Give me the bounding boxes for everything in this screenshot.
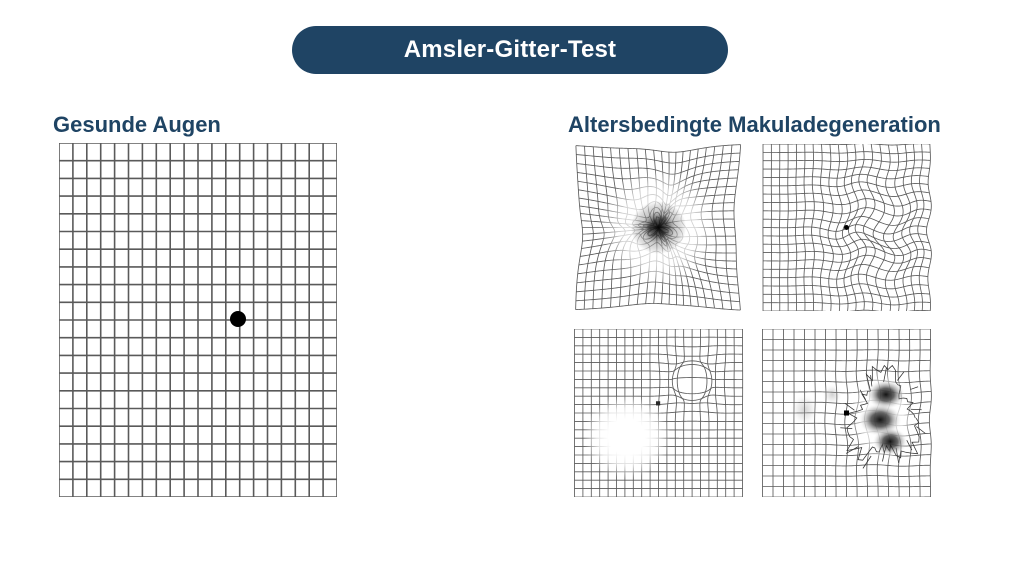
fixation-dot xyxy=(656,401,660,405)
amd-panel-dark-blotch xyxy=(761,329,932,497)
amd-grid-4-svg xyxy=(761,329,932,497)
amd-grid-3-svg xyxy=(573,329,744,497)
amd-panel-blind-spot xyxy=(573,329,744,497)
healthy-amsler-grid xyxy=(59,143,337,497)
scotoma-lower-left xyxy=(583,395,670,479)
amd-grid-2-svg xyxy=(761,144,932,311)
scotoma-faint-left xyxy=(790,393,819,427)
scotoma-faint-midleft xyxy=(822,384,842,406)
scotoma-dark-lower xyxy=(873,427,908,456)
page-root: Amsler-Gitter-Test Gesunde Augen Altersb… xyxy=(0,0,1024,576)
amd-grid-1-svg xyxy=(573,144,744,311)
amd-section-heading: Altersbedingte Makuladegeneration xyxy=(568,112,941,138)
healthy-grid-svg xyxy=(59,143,337,497)
grid-lines xyxy=(59,143,337,497)
title-banner: Amsler-Gitter-Test xyxy=(292,26,728,74)
amd-panel-wavy-right xyxy=(761,144,932,311)
fixation-dot xyxy=(230,311,246,327)
fixation-dot xyxy=(844,225,849,230)
healthy-section-heading: Gesunde Augen xyxy=(53,112,221,138)
amd-panel-central-distortion xyxy=(573,144,744,311)
fixation-dot xyxy=(844,410,849,415)
page-title: Amsler-Gitter-Test xyxy=(404,36,617,64)
central-scotoma xyxy=(620,191,697,264)
